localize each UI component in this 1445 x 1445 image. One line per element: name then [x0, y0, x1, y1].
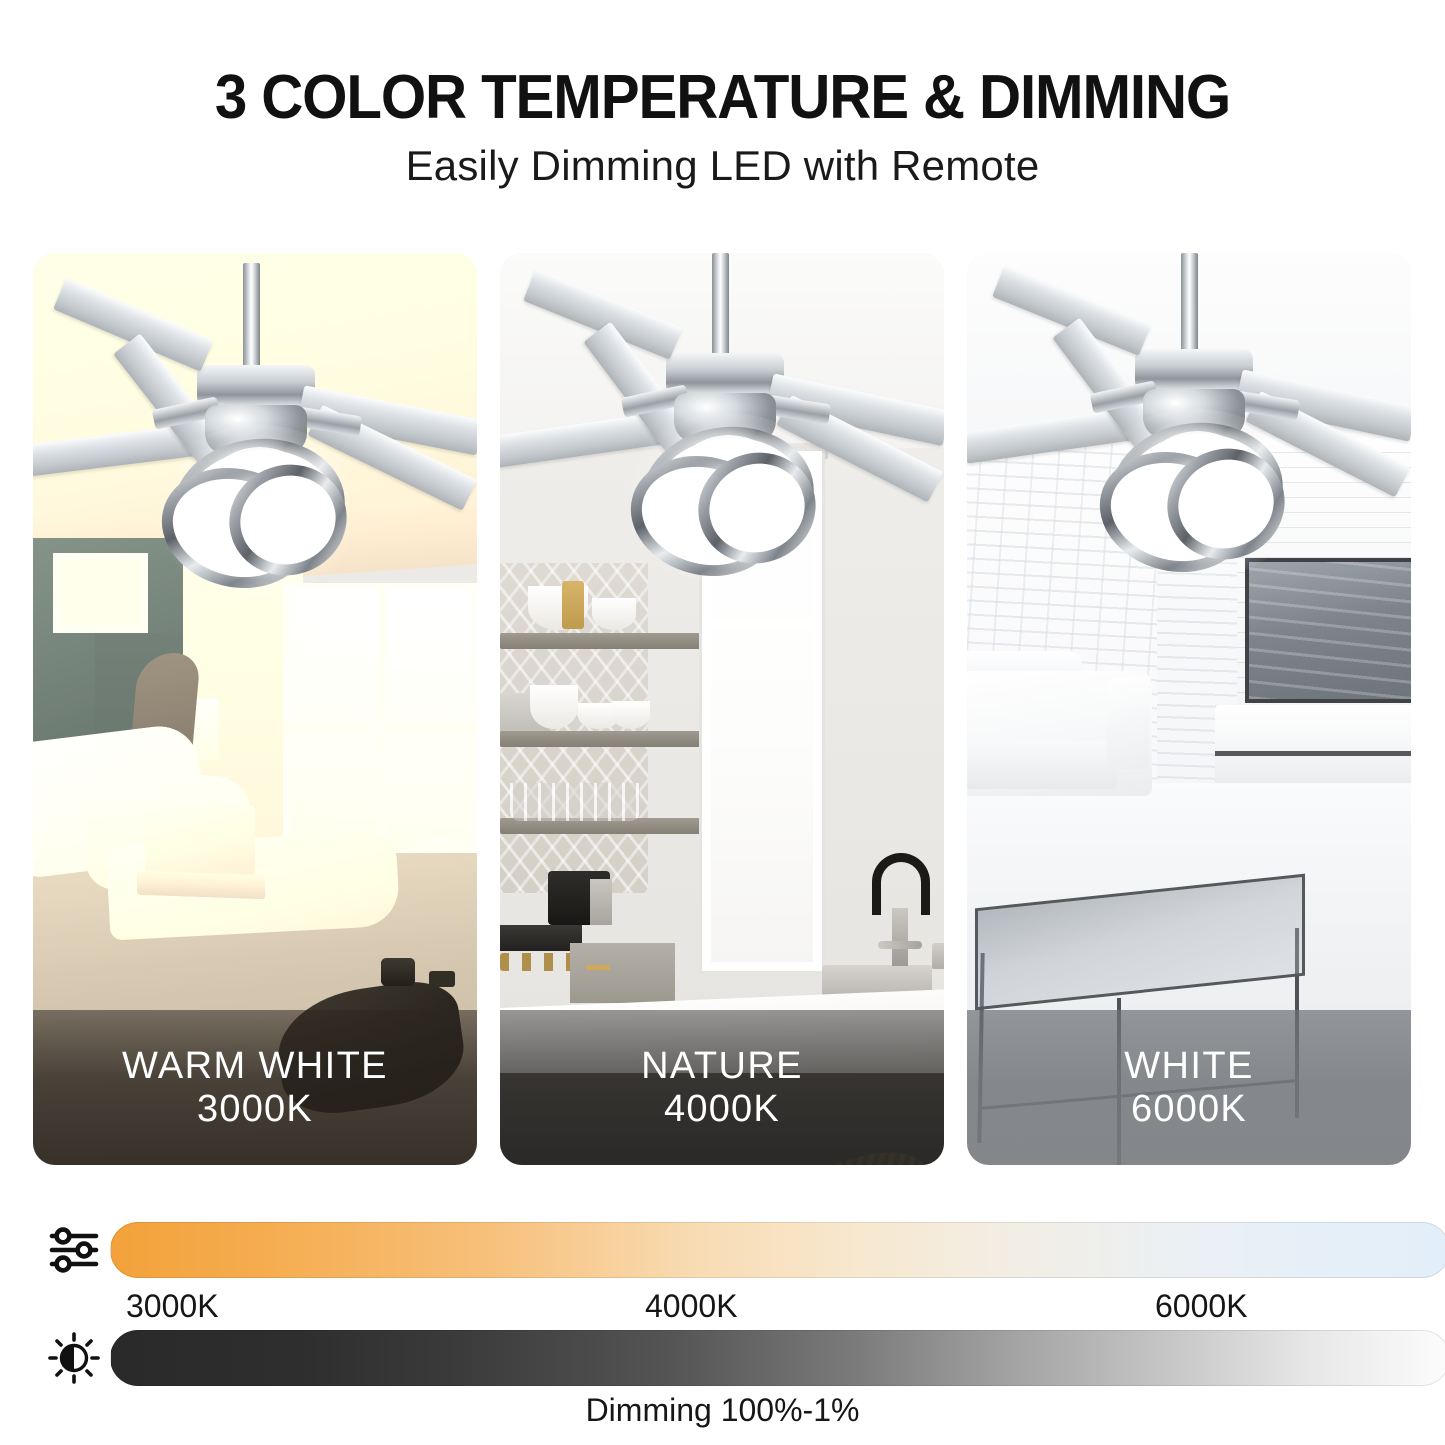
page-subtitle: Easily Dimming LED with Remote — [0, 142, 1445, 190]
panel-caption-warm-white: WARM WHITE 3000K — [33, 1010, 477, 1165]
panel-name: WHITE — [1124, 1045, 1253, 1088]
panel-caption-nature: NATURE 4000K — [500, 1010, 944, 1165]
sliders-icon — [48, 1224, 100, 1276]
panel-name: WARM WHITE — [122, 1045, 388, 1088]
tick-4000k: 4000K — [645, 1288, 738, 1325]
tick-6000k: 6000K — [1155, 1288, 1248, 1325]
color-temperature-ticks: 3000K 4000K 6000K — [110, 1288, 1445, 1332]
panel-temperature: 3000K — [197, 1088, 313, 1131]
panel-warm-white[interactable]: WARM WHITE 3000K — [33, 253, 477, 1165]
panel-temperature: 4000K — [664, 1088, 780, 1131]
dimming-range-label: Dimming 100%-1% — [0, 1392, 1445, 1429]
dimming-bar-row — [48, 1330, 1445, 1386]
panel-white[interactable]: WHITE 6000K — [967, 253, 1411, 1165]
color-temperature-gradient[interactable] — [110, 1222, 1445, 1278]
color-temperature-panels: WARM WHITE 3000K — [33, 253, 1412, 1165]
brightness-icon — [48, 1332, 100, 1384]
panel-temperature: 6000K — [1131, 1088, 1247, 1131]
dimming-gradient[interactable] — [110, 1330, 1445, 1386]
panel-nature[interactable]: NATURE 4000K — [500, 253, 944, 1165]
tick-3000k: 3000K — [126, 1288, 219, 1325]
color-temperature-bar-row — [48, 1222, 1445, 1278]
page-title: 3 COLOR TEMPERATURE & DIMMING — [43, 62, 1401, 133]
panel-caption-white: WHITE 6000K — [967, 1010, 1411, 1165]
panel-name: NATURE — [641, 1045, 803, 1088]
